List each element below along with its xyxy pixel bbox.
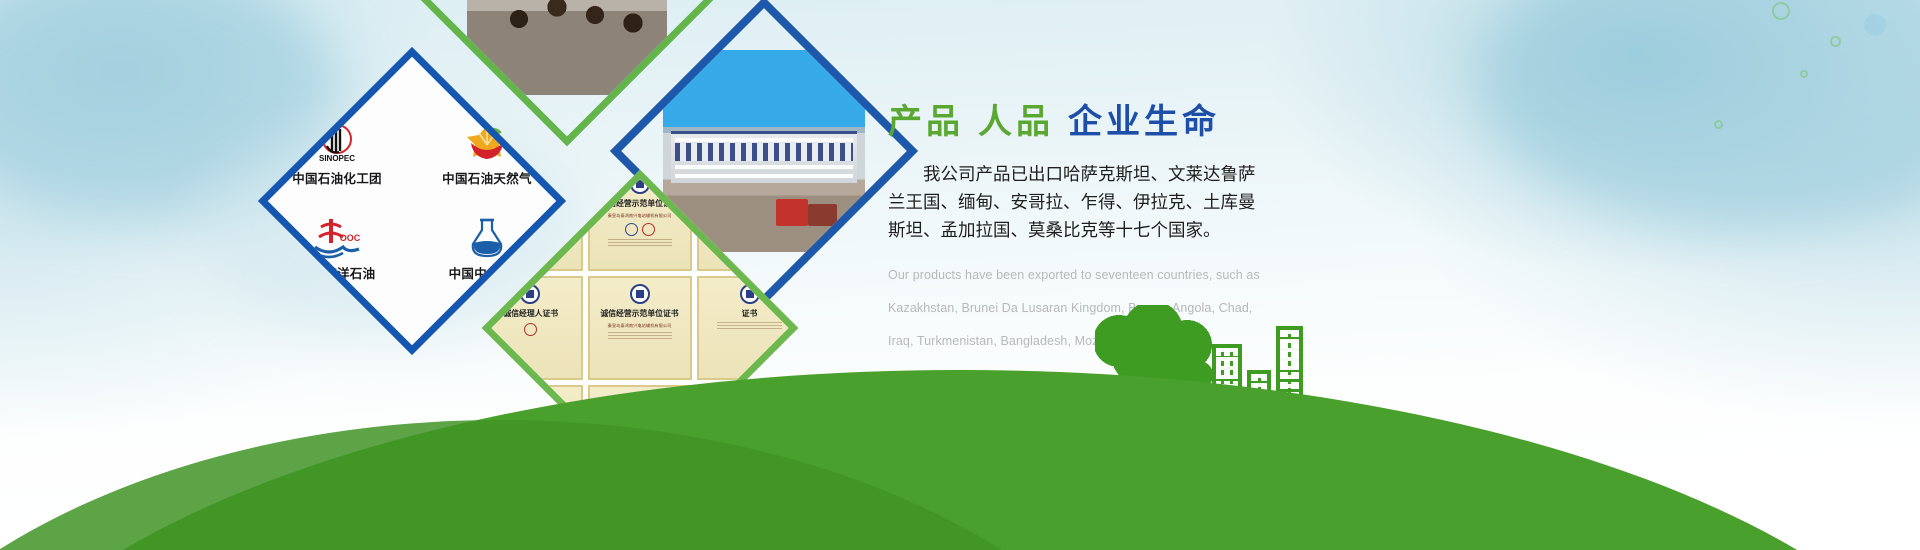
partner-logo-cnooc[interactable]: OOC 中国海洋石油	[267, 216, 407, 282]
bubble-icon	[1772, 2, 1790, 20]
team-photo-inner	[467, 0, 667, 95]
certificate-emblem-icon	[630, 284, 650, 304]
headline-segment-2: 人品	[978, 102, 1054, 142]
certificate-company: 秦皇岛泰鸿南兴电站辅机有限公司	[608, 213, 672, 219]
partner-logo-label: 中国石油化工团	[267, 168, 407, 187]
bg-wash-right	[1480, 0, 1920, 230]
page-title: 产品人品企业生命	[888, 104, 1308, 141]
factory-truck-red	[776, 199, 808, 225]
certificate-stamps	[625, 223, 655, 236]
stamp-icon	[524, 323, 537, 336]
certificate-company: 秦皇岛泰鸿南兴电站辅机有限公司	[608, 322, 672, 328]
certificate-stamps	[524, 323, 537, 336]
company-profile-banner: SINOPEC 中国石油化工团 中国石油天然气	[0, 0, 1920, 550]
partner-logo-petrochina[interactable]: 中国石油天然气	[417, 121, 557, 187]
cnooc-logo-icon: OOC	[267, 216, 407, 260]
partner-logo-sinopec[interactable]: SINOPEC 中国石油化工团	[267, 121, 407, 187]
bubble-icon	[1864, 14, 1886, 36]
certificate-item[interactable]: 证书	[697, 276, 798, 381]
partner-logo-sinochem[interactable]: 中国中化集团	[417, 216, 557, 282]
certificate-emblem-icon	[630, 174, 650, 194]
bubble-icon	[1830, 36, 1841, 47]
svg-text:OOC: OOC	[340, 233, 361, 243]
chinese-description: 我公司产品已出口哈萨克斯坦、文莱达鲁萨兰王国、缅甸、安哥拉、乍得、伊拉克、土库曼…	[888, 161, 1268, 245]
bubble-icon	[1714, 120, 1723, 129]
stamp-icon	[642, 223, 655, 236]
factory-photo-image	[663, 50, 865, 252]
certificate-detail-lines	[608, 332, 672, 340]
headline-segment-3: 企业生命	[1068, 102, 1220, 142]
certificate-title: 证书	[742, 307, 758, 318]
certificate-detail-lines	[608, 239, 672, 247]
sinopec-logo-icon: SINOPEC	[267, 121, 407, 165]
svg-text:SINOPEC: SINOPEC	[319, 154, 355, 163]
stamp-icon	[541, 223, 554, 236]
bubble-icon	[1800, 70, 1808, 78]
certificate-title: 诚信经理人证书	[503, 307, 558, 318]
partner-logo-label: 中国海洋石油	[267, 263, 407, 282]
partner-logos-grid: SINOPEC 中国石油化工团 中国石油天然气	[262, 106, 562, 296]
certificate-item[interactable]: 诚信经营示范单位证书 秦皇岛泰鸿南兴电站辅机有限公司	[588, 276, 693, 381]
headline-segment-1: 产品	[888, 102, 964, 142]
partner-logo-label: 中国石油天然气	[417, 168, 557, 187]
certificate-detail-lines	[717, 322, 781, 330]
certificate-emblem-icon	[520, 284, 540, 304]
bubble-icon	[1630, 44, 1644, 58]
certificate-emblem-icon	[740, 284, 760, 304]
certificate-item[interactable]: 诚信经理人证书	[482, 276, 583, 381]
stamp-icon	[625, 223, 638, 236]
petrochina-logo-icon	[417, 121, 557, 165]
sinochem-logo-icon	[417, 216, 557, 260]
factory-windows	[675, 143, 853, 161]
team-photo-image	[467, 0, 667, 95]
certificate-title: 诚信经营示范单位证书	[601, 197, 679, 208]
factory-truck-dark	[808, 204, 836, 226]
certificate-title: 诚信经营示范单位证书	[601, 307, 679, 318]
factory-photo-inner	[663, 50, 865, 252]
